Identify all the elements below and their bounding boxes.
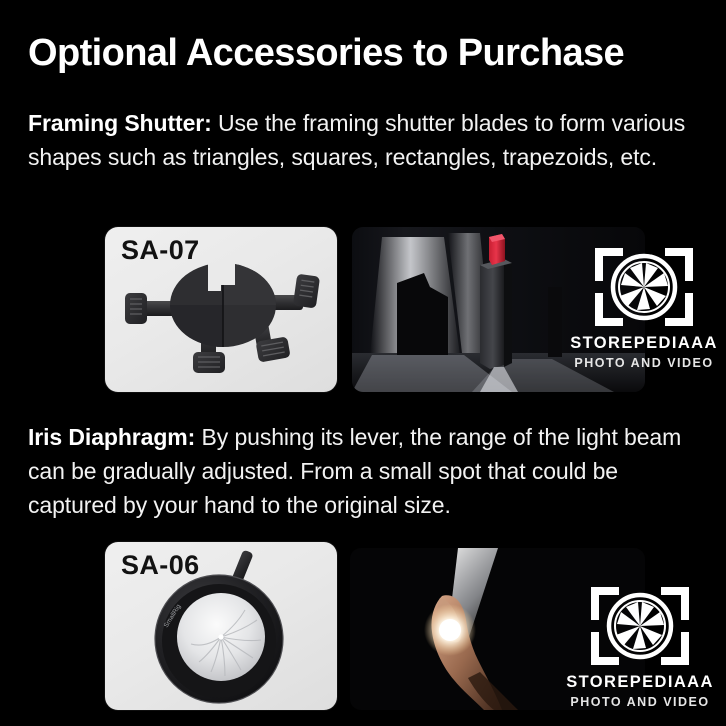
product-model-label-sa-06: SA-06 (121, 550, 200, 581)
product-card-sa-06[interactable]: SmallRig SA-06 (105, 542, 337, 710)
watermark-tagline: PHOTO AND VIDEO (556, 696, 724, 709)
framing-shutter-lead: Framing Shutter: (28, 110, 212, 136)
watermark-brand: STOREPEDIAAA (556, 674, 724, 691)
iris-diaphragm-lead: Iris Diaphragm: (28, 424, 195, 450)
watermark-brand: STOREPEDIAAA (560, 335, 726, 352)
watermark-top: STOREPEDIAAA PHOTO AND VIDEO (560, 245, 726, 369)
watermark-bottom: STOREPEDIAAA PHOTO AND VIDEO (556, 584, 724, 708)
aperture-logo-icon (556, 584, 724, 668)
page-title: Optional Accessories to Purchase (28, 34, 624, 74)
iris-diaphragm-paragraph: Iris Diaphragm: By pushing its lever, th… (28, 420, 700, 522)
framing-shutter-paragraph: Framing Shutter: Use the framing shutter… (28, 106, 700, 174)
product-model-label-sa-07: SA-07 (121, 235, 200, 266)
infographic-page: Optional Accessories to Purchase Framing… (0, 0, 726, 726)
aperture-logo-icon (560, 245, 726, 329)
watermark-tagline: PHOTO AND VIDEO (560, 357, 726, 370)
product-card-sa-07[interactable]: SA-07 (105, 227, 337, 392)
